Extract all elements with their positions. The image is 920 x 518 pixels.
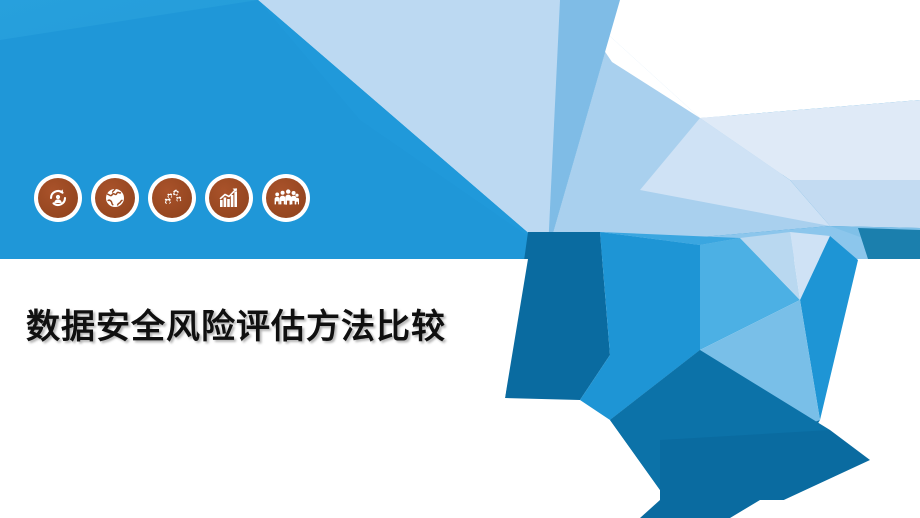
refresh-user-icon [38,178,78,218]
icon-badge-row [34,174,310,222]
page-title: 数据安全风险评估方法比较 [26,299,446,348]
decorative-polygon-background [0,0,920,518]
people-group-icon [266,178,306,218]
icon-badge-gears[interactable] [148,174,196,222]
icon-badge-refresh-user[interactable] [34,174,82,222]
bar-chart-icon [209,178,249,218]
polygon-steel-right [858,228,920,259]
bottom-white-strip [0,500,920,518]
presentation-slide: 数智创新 变革未来 [0,0,920,518]
gears-icon [152,178,192,218]
icon-badge-people-group[interactable] [262,174,310,222]
icon-badge-bar-chart[interactable] [205,174,253,222]
globe-icon [95,178,135,218]
icon-badge-globe[interactable] [91,174,139,222]
slide-tagline: 数智创新 变革未来 [723,26,898,46]
